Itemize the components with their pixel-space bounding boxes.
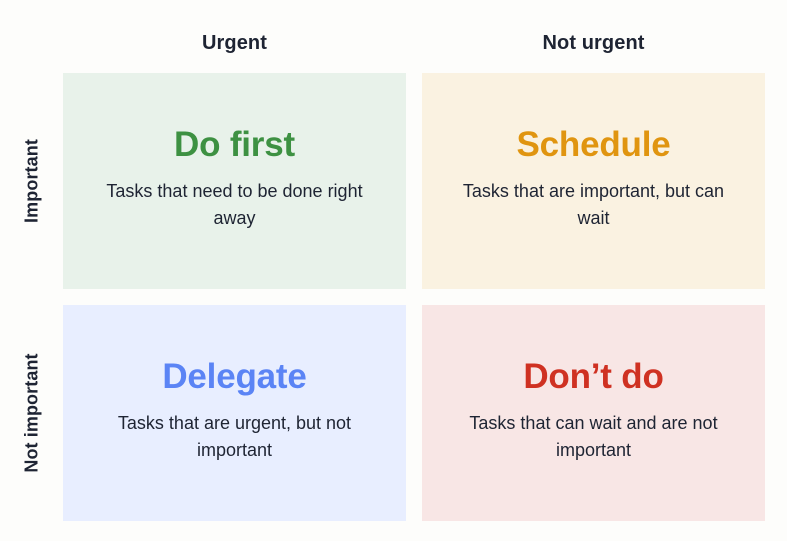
- eisenhower-matrix: Urgent Not urgent Important Not importan…: [0, 0, 787, 541]
- row-label-important-text: Important: [21, 139, 42, 223]
- column-header-not-urgent-label: Not urgent: [542, 32, 644, 55]
- column-header-urgent-label: Urgent: [202, 32, 267, 55]
- quadrant-dont-do-description: Tasks that can wait and are not importan…: [454, 410, 734, 463]
- column-header-row: Urgent Not urgent: [63, 26, 765, 60]
- row-label-column: Important Not important: [0, 73, 63, 521]
- column-header-not-urgent: Not urgent: [422, 26, 765, 60]
- quadrant-do-first-title: Do first: [174, 125, 295, 164]
- row-label-important: Important: [0, 73, 63, 289]
- row-label-not-important-text: Not important: [21, 353, 42, 472]
- quadrant-dont-do[interactable]: Don’t do Tasks that can wait and are not…: [422, 305, 765, 521]
- quadrant-delegate-description: Tasks that are urgent, but not important: [95, 410, 375, 463]
- row-label-not-important: Not important: [0, 305, 63, 521]
- quadrant-do-first[interactable]: Do first Tasks that need to be done righ…: [63, 73, 406, 289]
- quadrant-do-first-description: Tasks that need to be done right away: [95, 178, 375, 231]
- quadrant-schedule-title: Schedule: [516, 125, 670, 164]
- quadrant-delegate-title: Delegate: [162, 357, 306, 396]
- quadrant-schedule[interactable]: Schedule Tasks that are important, but c…: [422, 73, 765, 289]
- quadrant-delegate[interactable]: Delegate Tasks that are urgent, but not …: [63, 305, 406, 521]
- quadrant-grid: Do first Tasks that need to be done righ…: [63, 73, 765, 521]
- column-header-urgent: Urgent: [63, 26, 406, 60]
- quadrant-schedule-description: Tasks that are important, but can wait: [454, 178, 734, 231]
- quadrant-dont-do-title: Don’t do: [523, 357, 663, 396]
